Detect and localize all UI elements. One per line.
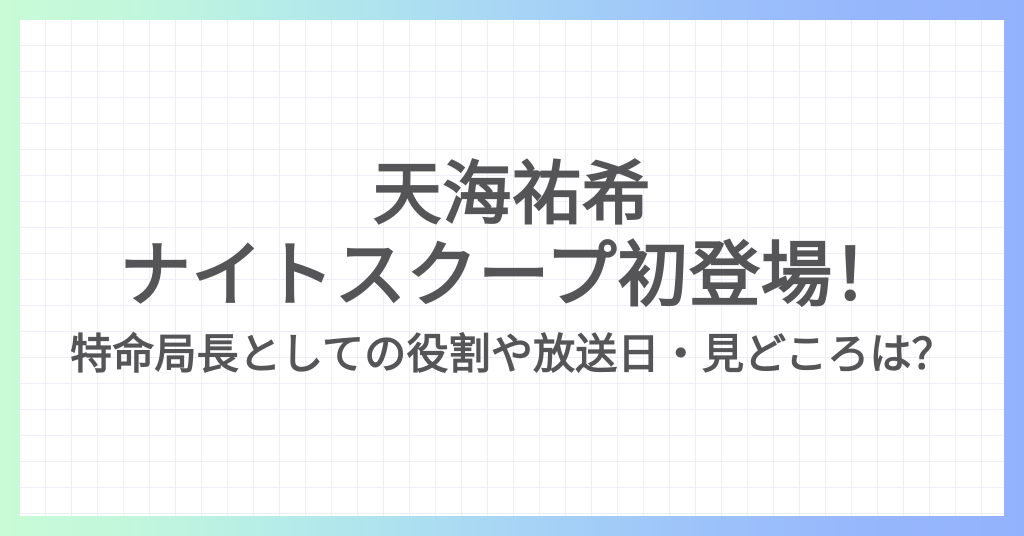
headline-block: 天海祐希 ナイトスクープ初登場！ 特命局長としての役割や放送日・見どころは？ <box>20 154 1004 383</box>
grid-paper-panel: 天海祐希 ナイトスクープ初登場！ 特命局長としての役割や放送日・見どころは？ <box>20 20 1004 516</box>
headline-subtitle: 特命局長としての役割や放送日・見どころは？ <box>28 327 996 382</box>
headline-line-one: 天海祐希 <box>28 154 996 235</box>
article-thumbnail-card: 天海祐希 ナイトスクープ初登場！ 特命局長としての役割や放送日・見どころは？ <box>0 0 1024 536</box>
headline-line-two: ナイトスクープ初登場！ <box>28 235 996 319</box>
